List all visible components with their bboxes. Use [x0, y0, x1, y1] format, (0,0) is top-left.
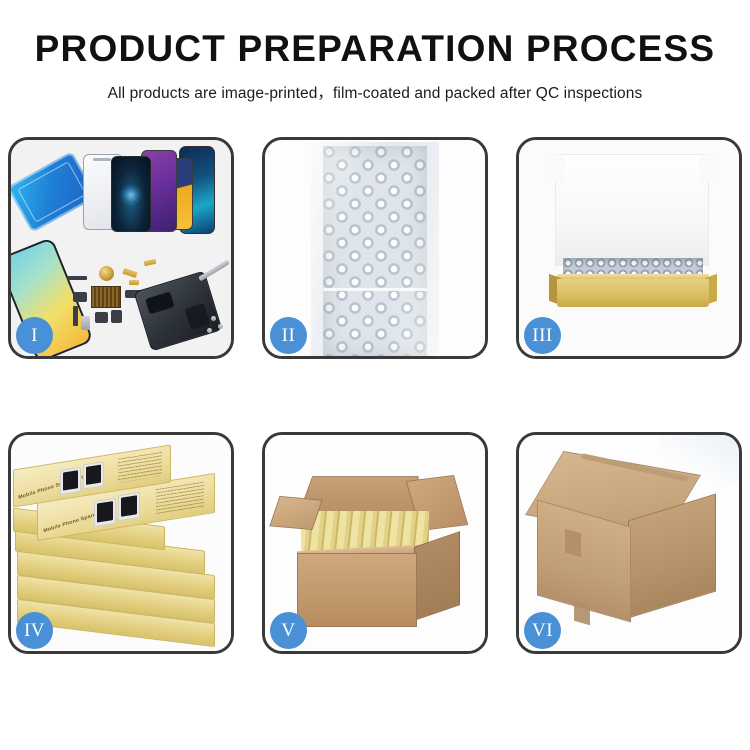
inner-box-front [557, 279, 709, 307]
retail-box-product-image-a [94, 498, 116, 527]
part-antenna-cable [73, 306, 78, 326]
retail-box-spec-text-top [118, 452, 162, 483]
process-step-6[interactable]: VI [516, 432, 742, 654]
bubble-pouch-gloss [311, 142, 439, 356]
retail-box-product-image-c [60, 467, 81, 495]
part-screw-tray [91, 286, 121, 308]
retail-box-spec-text-middle [156, 482, 204, 516]
step-4-badge: IV [16, 612, 53, 649]
part-gold-bracket [122, 268, 137, 278]
process-step-4[interactable]: Mobile Phone Spare Parts Mobile Phone Sp… [8, 432, 234, 654]
part-connector [73, 292, 87, 302]
process-step-1[interactable]: I [8, 137, 234, 359]
part-gold-clip [129, 280, 139, 285]
part-vibrator [111, 310, 122, 323]
process-step-2[interactable]: II [262, 137, 488, 359]
part-screw-b [218, 324, 223, 329]
carton-right-side [414, 531, 460, 621]
process-step-grid: I II III [8, 137, 742, 654]
part-sim-tray [81, 316, 90, 330]
retail-box-product-image-d [83, 461, 104, 489]
part-screw-a [211, 316, 216, 321]
part-screw-c [207, 328, 212, 333]
part-camera-module [95, 312, 108, 323]
retail-box-product-image-b [118, 492, 140, 521]
phone-back-housing [134, 271, 223, 352]
sealed-carton-tape-lower [574, 601, 590, 626]
step-6-badge: VI [524, 612, 561, 649]
part-speaker-coil [99, 266, 114, 281]
part-gold-shield [144, 259, 157, 266]
process-step-5[interactable]: V [262, 432, 488, 654]
part-flex-strip [67, 276, 87, 280]
page-header: PRODUCT PREPARATION PROCESS All products… [0, 0, 750, 103]
step-3-badge: III [524, 317, 561, 354]
step-5-badge: V [270, 612, 307, 649]
step-1-badge: I [16, 317, 53, 354]
step-2-badge: II [270, 317, 307, 354]
inner-box-lid [555, 154, 709, 266]
part-tweezers [198, 260, 230, 282]
page-title: PRODUCT PREPARATION PROCESS [0, 30, 750, 69]
carton-front-face [297, 553, 417, 627]
phone-dark-wallpaper [111, 156, 151, 232]
sealed-carton-tape-upper [565, 529, 581, 558]
process-step-3[interactable]: III [516, 137, 742, 359]
page-subtitle: All products are image-printed，film-coat… [0, 81, 750, 103]
